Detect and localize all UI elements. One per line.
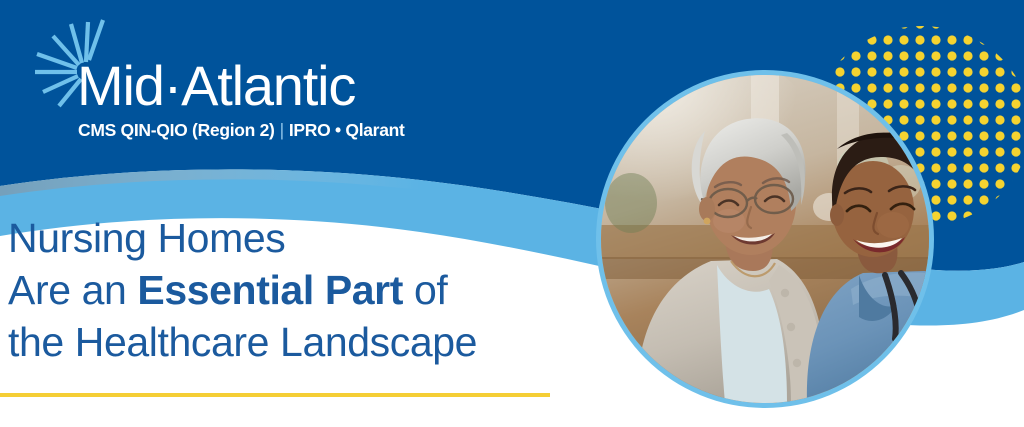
logo-tagline: CMS QIN-QIO (Region 2)|IPRO • Qlarant bbox=[78, 120, 405, 140]
page-title: Nursing Homes Are an Essential Part of t… bbox=[8, 212, 477, 368]
tagline-divider: | bbox=[275, 120, 289, 140]
logo-wordmark: Mid·Atlantic bbox=[77, 58, 355, 114]
headline-line-2: Are an Essential Part of bbox=[8, 264, 477, 316]
headline-emphasis: Essential Part bbox=[137, 267, 403, 313]
headline-line-3: the Healthcare Landscape bbox=[8, 316, 477, 368]
two-women-embracing-photo bbox=[601, 75, 929, 403]
yellow-underline-rule bbox=[0, 393, 550, 397]
photo-illustration bbox=[601, 75, 929, 403]
tagline-right: IPRO • Qlarant bbox=[289, 120, 405, 140]
headline-line-2-prefix: Are an bbox=[8, 267, 137, 313]
photo-ring bbox=[596, 70, 934, 408]
tagline-left: CMS QIN-QIO (Region 2) bbox=[78, 120, 275, 140]
headline-line-2-suffix: of bbox=[403, 267, 447, 313]
headline-line-1: Nursing Homes bbox=[8, 212, 477, 264]
marketing-banner: Mid·Atlantic CMS QIN-QIO (Region 2)|IPRO… bbox=[0, 0, 1024, 427]
mid-atlantic-logo[interactable]: Mid·Atlantic CMS QIN-QIO (Region 2)|IPRO… bbox=[33, 14, 378, 139]
